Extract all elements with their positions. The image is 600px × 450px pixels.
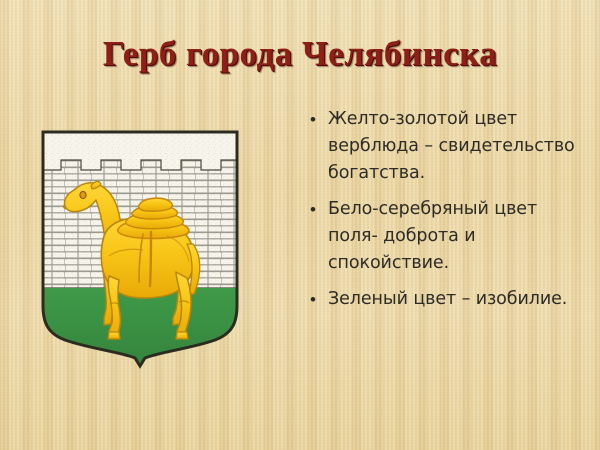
bullet-list: • Желто-золотой цвет верблюда – свидетел… [307,106,592,322]
bullet-text: Бело-серебряный цвет поля- доброта и спо… [328,196,592,277]
page-title: Герб города Челябинска [0,34,600,74]
list-item: • Зеленый цвет – изобилие. [307,286,592,313]
coat-of-arms-image [39,128,241,370]
list-item: • Бело-серебряный цвет поля- доброта и с… [307,196,592,277]
camel-eye [80,191,86,198]
bullet-dot-icon: • [307,106,328,133]
bullet-text: Желто-золотой цвет верблюда – свидетельс… [328,106,592,187]
list-item: • Желто-золотой цвет верблюда – свидетел… [307,106,592,187]
coat-of-arms-svg [39,128,241,370]
bullet-dot-icon: • [307,196,328,223]
bullet-dot-icon: • [307,286,328,313]
bullet-text: Зеленый цвет – изобилие. [328,286,592,313]
slide-canvas: Герб города Челябинска [0,0,600,450]
green-field [39,288,241,370]
shield-field [39,128,241,370]
